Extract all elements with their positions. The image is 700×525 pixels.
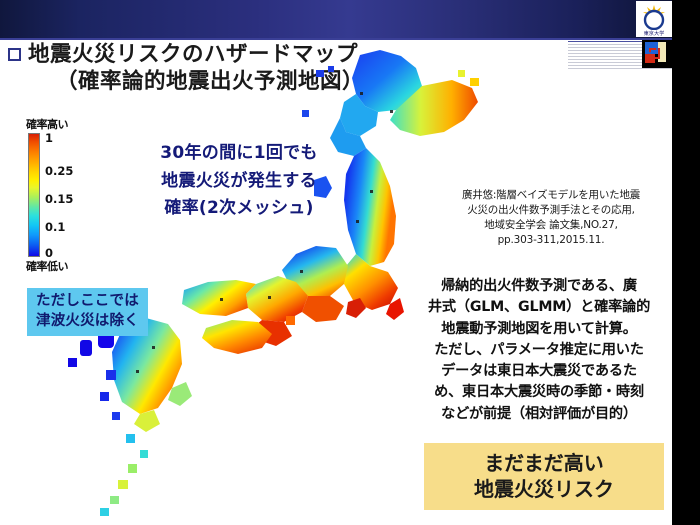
map-region-shikoku xyxy=(202,320,272,354)
svg-text:東京大学: 東京大学 xyxy=(644,29,665,37)
map-island-yakushima xyxy=(126,434,135,443)
map-island-okinawa xyxy=(118,480,128,489)
citation-line-4: pp.303-311,2015.11. xyxy=(434,233,668,248)
center-headline-line-1: 30年の間に1回でも xyxy=(128,140,350,168)
conclusion-callout: まだまだ高い 地震火災リスク xyxy=(424,443,664,510)
colorbar-tick-01: 0.1 xyxy=(45,220,65,234)
map-island-goto-south xyxy=(80,340,92,356)
conclusion-line-2: 地震火災リスク xyxy=(428,476,660,502)
citation-reference: 廣井悠:階層ベイズモデルを用いた地震 火災の出火件数予測手法とその応用, 地域安… xyxy=(434,188,668,248)
center-headline-line-2: 地震火災が発生する xyxy=(128,168,350,196)
map-region-chugoku xyxy=(182,280,256,316)
citation-line-1: 廣井悠:階層ベイズモデルを用いた地震 xyxy=(434,188,668,203)
map-island-rebun xyxy=(328,66,334,72)
map-island-nemuro xyxy=(470,78,479,86)
cyan-note-line-2: 津波火災は除く xyxy=(36,312,139,332)
map-region-tokai xyxy=(302,296,344,322)
map-region-osumi xyxy=(134,410,160,432)
map-island-rishiri xyxy=(316,70,324,77)
methodology-line-4: ただし、パラメータ推定に用いた xyxy=(410,340,668,361)
map-island-amakusa xyxy=(106,370,116,380)
map-island-miyako xyxy=(110,496,119,504)
methodology-paragraph: 帰納的出火件数予測である、廣 井式（GLM、GLMM）と確率論的 地震動予測地図… xyxy=(410,276,668,425)
colorbar-ticks: 1 0.25 0.15 0.1 0 xyxy=(45,133,100,257)
methodology-line-7: などが前提（相対評価が目的） xyxy=(410,404,668,425)
colorbar-tick-015: 0.15 xyxy=(45,192,73,206)
map-island-koshikijima xyxy=(100,392,109,401)
methodology-line-5: データは東日本大震災であるた xyxy=(410,361,668,382)
citation-line-2: 火災の出火件数予測手法とその応用, xyxy=(434,203,668,218)
methodology-line-6: め、東日本大震災時の季節・時刻 xyxy=(410,382,668,403)
university-emblem-icon: 東京大学 xyxy=(636,1,672,37)
slide-root: 東京大学 地震火災リスクのハザードマップ （確率論的地震出火予測地図） xyxy=(0,0,700,525)
map-island-koshiki xyxy=(68,358,77,367)
legend-caption-low: 確率低い xyxy=(14,258,80,274)
map-region-tohoku xyxy=(344,148,396,266)
methodology-line-1: 帰納的出火件数予測である、廣 xyxy=(410,276,668,297)
map-island-tokara xyxy=(140,450,148,458)
center-headline-line-3: 確率(2次メッシュ) xyxy=(128,195,350,223)
probability-colorbar-legend: 確率高い 1 0.25 0.15 0.1 0 確率低い xyxy=(14,116,100,274)
cyan-note-line-1: ただしここでは xyxy=(36,292,139,312)
map-island-yaeyama xyxy=(100,508,109,516)
methodology-line-2: 井式（GLM、GLMM）と確率論的 xyxy=(410,297,668,318)
map-island-awaji xyxy=(286,316,295,325)
colorbar-tick-1: 1 xyxy=(45,131,53,145)
map-island-okushiri xyxy=(302,110,309,117)
tsunami-exclusion-note: ただしここでは 津波火災は除く xyxy=(27,288,148,336)
center-headline: 30年の間に1回でも 地震火災が発生する 確率(2次メッシュ) xyxy=(128,140,350,223)
right-black-strip xyxy=(672,0,700,525)
methodology-line-3: 地震動予測地図を用いて計算。 xyxy=(410,319,668,340)
conclusion-line-1: まだまだ高い xyxy=(428,450,660,476)
colorbar-tick-025: 0.25 xyxy=(45,164,73,178)
mondrian-blocks-logo-icon xyxy=(642,40,672,68)
map-island-amami xyxy=(128,464,137,473)
square-bullet-icon xyxy=(8,48,21,61)
colorbar-tick-0: 0 xyxy=(45,246,53,260)
citation-line-3: 地域安全学会 論文集,NO.27, xyxy=(434,218,668,233)
colorbar-gradient xyxy=(28,133,40,257)
map-island-shiretoko xyxy=(458,70,465,77)
legend-caption-high: 確率高い xyxy=(14,116,80,132)
header-band xyxy=(0,0,672,38)
map-island-tanegashima xyxy=(112,412,120,420)
